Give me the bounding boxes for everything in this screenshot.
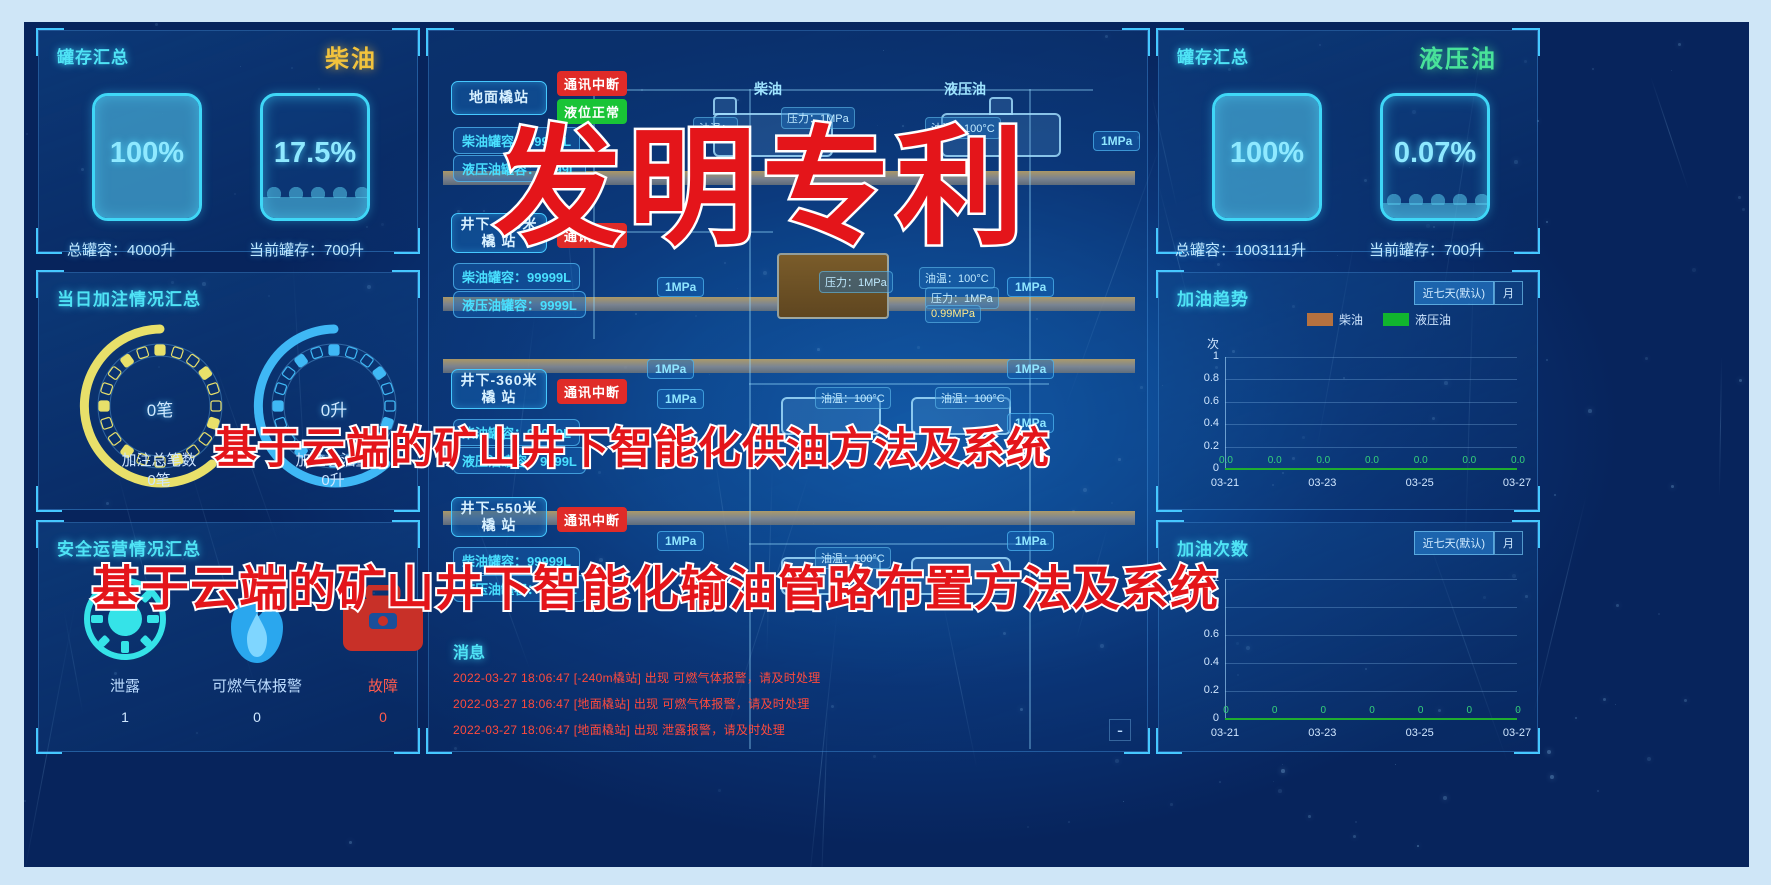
station--550-badge: 通讯中断	[557, 507, 627, 532]
right-current-tank-gauge: 0.07%	[1380, 93, 1490, 221]
pipe-h-mid2	[749, 383, 1049, 385]
left-total-capacity-label: 总罐容：4000升	[67, 239, 175, 260]
gridline	[1225, 635, 1517, 636]
left-total-tank-gauge: 100%	[92, 93, 202, 221]
trend-chart-plot: 00.20.40.60.81	[1225, 357, 1517, 469]
count-chart-range-buttons[interactable]: 近七天(默认) 月	[1414, 531, 1523, 555]
frame-edge-right	[1749, 0, 1771, 885]
pressure-tag-0: 1MPa	[1093, 131, 1140, 151]
y-axis-line	[1225, 579, 1226, 719]
x-tick-label: 03-21	[1199, 727, 1251, 739]
panel-left-tank-summary: 罐存汇总 柴油 100% 17.5% 总罐容：4000升 当前罐存：700升	[38, 30, 418, 252]
data-point-label: 0	[1215, 705, 1237, 716]
right-current-tank-pct: 0.07%	[1383, 137, 1487, 170]
y-tick-label: 0.6	[1195, 628, 1219, 640]
dashboard-screen: 罐存汇总 柴油 100% 17.5% 总罐容：4000升 当前罐存：700升 当…	[0, 0, 1771, 885]
legend-swatch-hydraulic	[1383, 313, 1409, 326]
safety-value-1: 0	[187, 709, 327, 725]
station-box--550[interactable]: 井下-550米 橇 站	[451, 497, 547, 537]
trend-chart-legend: 柴油 液压油	[1307, 311, 1451, 328]
station--360-name-2: 橇 站	[482, 389, 517, 407]
x-tick-label: 03-23	[1296, 727, 1348, 739]
right-current-stock-label: 当前罐存：700升	[1369, 239, 1484, 260]
gridline	[1225, 579, 1517, 580]
y-axis-line	[1225, 357, 1226, 469]
pressure-tag-4: 1MPa	[1007, 359, 1054, 379]
data-point-label: 0.0	[1410, 455, 1432, 466]
safety-label-1: 可燃气体报警	[187, 675, 327, 696]
station--550-name-1: 井下-550米	[460, 500, 537, 518]
zoom-out-button[interactable]: -	[1109, 719, 1131, 741]
x-tick-label: 03-21	[1199, 477, 1251, 489]
gridline	[1225, 691, 1517, 692]
message-row-2: 2022-03-27 18:06:47 [地面橇站] 出现 泄露报警，请及时处理	[453, 721, 785, 738]
data-point-label: 0	[1410, 705, 1432, 716]
data-point-label: 0	[1361, 705, 1383, 716]
data-point-label: 0	[1264, 705, 1286, 716]
x-tick-label: 03-27	[1491, 477, 1543, 489]
legend-label-hydraulic: 液压油	[1415, 311, 1451, 328]
data-point-label: 0.0	[1458, 455, 1480, 466]
left-total-tank-pct: 100%	[95, 137, 199, 170]
count-chart-point-labels: 0000000	[1219, 705, 1525, 723]
watermark-headline: 发明专利	[494, 84, 1030, 269]
refuel-count-label-line1: 加注总笔数	[99, 451, 219, 471]
dashboard-stage: 罐存汇总 柴油 100% 17.5% 总罐容：4000升 当前罐存：700升 当…	[24, 22, 1749, 867]
safety-label-2: 故障	[339, 675, 427, 696]
gridline	[1225, 424, 1517, 425]
station--200-cap-hydraulic: 液压油罐容：9999L	[453, 291, 586, 318]
frame-edge-left	[0, 0, 24, 885]
count-btn-week[interactable]: 近七天(默认)	[1414, 531, 1494, 555]
right-tank-summary-title: 罐存汇总	[1177, 43, 1249, 68]
watermark-line-1: 基于云端的矿山井下智能化供油方法及系统	[214, 414, 1050, 476]
gridline	[1225, 379, 1517, 380]
frame-edge-top	[0, 0, 1771, 22]
chip-oil-temp-4: 油温：100°C	[815, 387, 891, 409]
right-total-tank-gauge: 100%	[1212, 93, 1322, 221]
gridline	[1225, 607, 1517, 608]
pressure-tag-7: 1MPa	[657, 531, 704, 551]
data-point-label: 0.0	[1215, 455, 1237, 466]
trend-chart-title: 加油趋势	[1177, 285, 1249, 310]
pressure-tag-3: 1MPa	[647, 359, 694, 379]
message-row-0: 2022-03-27 18:06:47 [-240m橇站] 出现 可燃气体报警，…	[453, 669, 821, 686]
panel-refuel-trend-chart: 加油趋势 近七天(默认) 月 柴油 液压油 次 00.20.40.60.81 0…	[1158, 272, 1538, 510]
station--360-badge: 通讯中断	[557, 379, 627, 404]
gridline	[1225, 663, 1517, 664]
trend-chart-range-buttons[interactable]: 近七天(默认) 月	[1414, 281, 1523, 305]
gridline	[1225, 402, 1517, 403]
y-tick-label: 1	[1195, 350, 1219, 362]
data-point-label: 0	[1507, 705, 1529, 716]
right-total-tank-pct: 100%	[1215, 137, 1319, 170]
gridline	[1225, 357, 1517, 358]
y-tick-label: 0.4	[1195, 417, 1219, 429]
left-tank-summary-title: 罐存汇总	[57, 43, 129, 68]
pressure-tag-2: 1MPa	[1007, 277, 1054, 297]
x-tick-label: 03-23	[1296, 477, 1348, 489]
station-box--360[interactable]: 井下-360米 橇 站	[451, 369, 547, 409]
count-chart-xticks: 03-2103-2303-2503-27	[1225, 723, 1517, 747]
left-fuel-type-label: 柴油	[325, 39, 377, 74]
refuel-count-label: 加注总笔数 0笔	[99, 451, 219, 492]
right-total-capacity-label: 总罐容：1003111升	[1175, 239, 1306, 260]
data-point-label: 0.0	[1312, 455, 1334, 466]
message-row-1: 2022-03-27 18:06:47 [地面橇站] 出现 可燃气体报警，请及时…	[453, 695, 810, 712]
panel-right-tank-summary: 罐存汇总 液压油 100% 0.07% 总罐容：1003111升 当前罐存：70…	[1158, 30, 1538, 252]
right-fuel-type-label: 液压油	[1419, 39, 1497, 74]
y-tick-label: 0.4	[1195, 656, 1219, 668]
station--360-name-1: 井下-360米	[460, 372, 537, 390]
y-tick-label: 0.8	[1195, 372, 1219, 384]
legend-swatch-diesel	[1307, 313, 1333, 326]
left-current-tank-pct: 17.5%	[263, 137, 367, 170]
pipe-h-mid3	[749, 543, 1049, 545]
data-point-label: 0.0	[1361, 455, 1383, 466]
data-point-label: 0	[1458, 705, 1480, 716]
gridline	[1225, 447, 1517, 448]
safety-value-0: 1	[85, 709, 165, 725]
trend-btn-week[interactable]: 近七天(默认)	[1414, 281, 1494, 305]
safety-label-0: 泄露	[85, 675, 165, 696]
watermark-line-2: 基于云端的矿山井下智能化输油管路布置方法及系统	[92, 549, 1219, 619]
chip-pressure-099: 0.99MPa	[925, 305, 981, 323]
pressure-tag-8: 1MPa	[1007, 531, 1054, 551]
y-tick-label: 0.6	[1195, 395, 1219, 407]
left-current-tank-gauge: 17.5%	[260, 93, 370, 221]
x-tick-label: 03-27	[1491, 727, 1543, 739]
trend-chart-point-labels: 0.00.00.00.00.00.00.0	[1219, 455, 1525, 473]
data-point-label: 0.0	[1264, 455, 1286, 466]
y-tick-label: 0.2	[1195, 684, 1219, 696]
legend-label-diesel: 柴油	[1339, 311, 1363, 328]
data-point-label: 0.0	[1507, 455, 1529, 466]
x-tick-label: 03-25	[1394, 477, 1446, 489]
chip-pressure-2: 压力：1MPa	[819, 271, 893, 293]
count-chart-plot: 00.20.40.60.81	[1225, 579, 1517, 719]
pressure-tag-1: 1MPa	[657, 277, 704, 297]
data-point-label: 0	[1312, 705, 1334, 716]
left-current-stock-label: 当前罐存：700升	[249, 239, 364, 260]
frame-edge-bottom	[0, 867, 1771, 885]
x-tick-label: 03-25	[1394, 727, 1446, 739]
trend-btn-month[interactable]: 月	[1494, 281, 1523, 305]
refuel-count-label-line2: 0笔	[99, 471, 219, 491]
pressure-tag-5: 1MPa	[657, 389, 704, 409]
messages-title: 消息	[453, 639, 485, 663]
safety-value-2: 0	[339, 709, 427, 725]
count-btn-month[interactable]: 月	[1494, 531, 1523, 555]
trend-chart-xticks: 03-2103-2303-2503-27	[1225, 473, 1517, 503]
station--550-name-2: 橇 站	[482, 517, 517, 535]
chip-oil-temp-3: 油温：100°C	[919, 267, 995, 289]
chip-oil-temp-5: 油温：100°C	[935, 387, 1011, 409]
daily-refuel-title: 当日加注情况汇总	[57, 285, 201, 310]
y-tick-label: 0.2	[1195, 440, 1219, 452]
